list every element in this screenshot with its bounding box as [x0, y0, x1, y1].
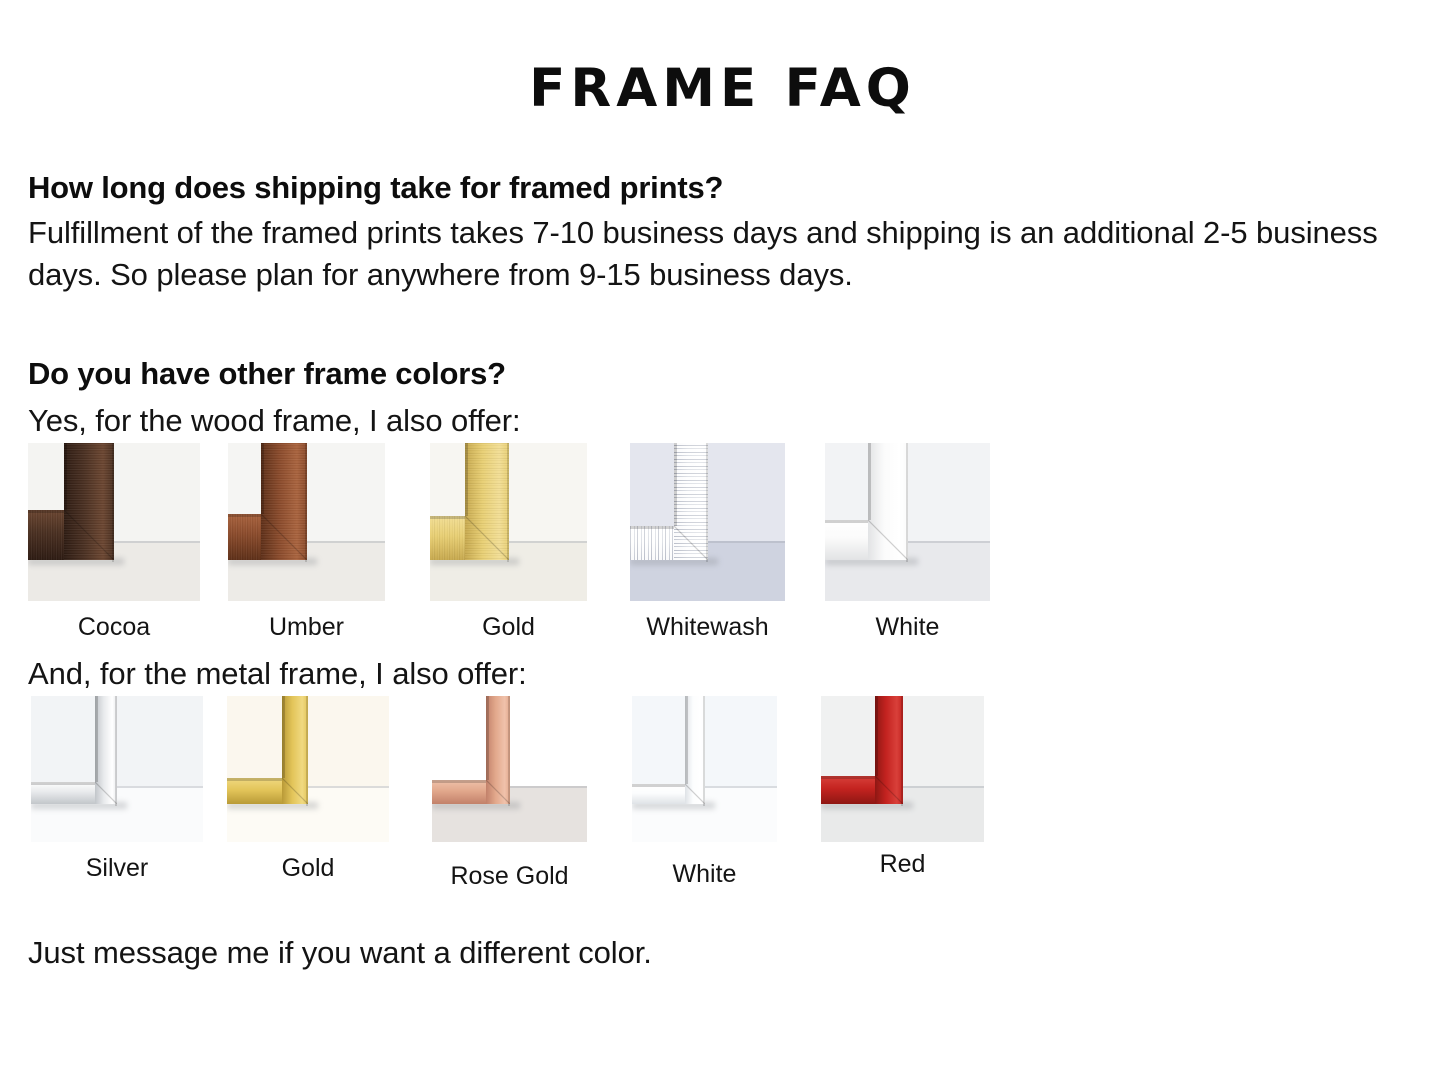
answer-shipping: Fulfillment of the framed prints takes 7… [28, 212, 1417, 298]
frame-inner-edge-horizontal [821, 776, 875, 779]
swatch-white-metal[interactable]: White [632, 696, 777, 842]
frame-outer-edge-vertical [706, 443, 708, 562]
frame-outer-edge-vertical [508, 696, 510, 806]
swatch-red-image [821, 696, 984, 842]
frame-inner-edge-vertical [465, 443, 468, 516]
frame-inner-edge-vertical [64, 443, 67, 510]
frame-corner-photo [825, 443, 990, 601]
frame-outer-edge-vertical [305, 443, 307, 562]
metal-swatch-row: SilverGoldRose GoldWhiteRed [28, 696, 1417, 896]
frame-corner-photo [227, 696, 389, 842]
frame-mitre-joint [868, 520, 908, 560]
page-title: FRAME FAQ [0, 0, 1445, 115]
swatch-silver[interactable]: Silver [31, 696, 203, 842]
frame-outer-edge-vertical [901, 696, 903, 806]
frame-inner-edge-vertical [261, 443, 264, 514]
frame-inner-edge-vertical [282, 696, 285, 778]
frame-corner-photo [430, 443, 587, 601]
question-frame-colors: Do you have other frame colors? [28, 357, 1417, 392]
swatch-gold-wood[interactable]: Gold [430, 443, 587, 601]
frame-inner-edge-vertical [486, 696, 489, 780]
frame-outer-edge-vertical [703, 696, 705, 806]
swatch-rose-gold[interactable]: Rose Gold [432, 696, 587, 842]
frame-outer-edge-vertical [115, 696, 117, 806]
frame-inner-edge-vertical [674, 443, 677, 526]
swatch-whitewash[interactable]: Whitewash [630, 443, 785, 601]
faq-content: How long does shipping take for framed p… [0, 171, 1445, 974]
swatch-white-wood-label: White [785, 613, 1030, 642]
frame-corner-photo [28, 443, 200, 601]
frame-inner-edge-horizontal [228, 514, 261, 517]
swatch-umber-image [228, 443, 385, 601]
swatch-cocoa[interactable]: Cocoa [28, 443, 200, 601]
frame-outer-edge-vertical [906, 443, 908, 562]
frame-inner-edge-horizontal [430, 516, 465, 519]
frame-inner-edge-horizontal [28, 510, 64, 513]
swatch-rose-gold-image [432, 696, 587, 842]
swatch-cocoa-image [28, 443, 200, 601]
frame-inner-edge-horizontal [31, 782, 95, 785]
frame-outer-edge-vertical [507, 443, 509, 562]
frame-mitre-joint [64, 510, 114, 560]
frame-inner-edge-vertical [685, 696, 688, 784]
frame-corner-photo [31, 696, 203, 842]
metal-frame-intro: And, for the metal frame, I also offer: [28, 653, 1417, 696]
frame-inner-edge-vertical [875, 696, 878, 776]
swatch-white-metal-image [632, 696, 777, 842]
swatch-white-wood[interactable]: White [825, 443, 990, 601]
question-shipping: How long does shipping take for framed p… [28, 171, 1417, 206]
frame-inner-edge-horizontal [227, 778, 282, 781]
frame-mitre-joint [486, 780, 510, 804]
frame-inner-edge-horizontal [432, 780, 486, 783]
wood-frame-intro: Yes, for the wood frame, I also offer: [28, 400, 1417, 443]
swatch-gold-metal-image [227, 696, 389, 842]
frame-inner-edge-horizontal [630, 526, 674, 529]
frame-inner-edge-vertical [95, 696, 98, 782]
frame-mitre-joint [875, 776, 903, 804]
swatch-umber[interactable]: Umber [228, 443, 385, 601]
frame-mitre-joint [95, 782, 117, 804]
photo-background-wall [31, 696, 203, 787]
frame-mitre-joint [674, 526, 708, 560]
frame-outer-edge-vertical [306, 696, 308, 806]
frame-corner-photo [630, 443, 785, 601]
frame-corner-photo [228, 443, 385, 601]
swatch-red[interactable]: Red [821, 696, 984, 842]
swatch-gold-wood-image [430, 443, 587, 601]
frame-corner-photo [821, 696, 984, 842]
swatch-whitewash-image [630, 443, 785, 601]
swatch-white-wood-image [825, 443, 990, 601]
frame-mitre-joint [261, 514, 307, 560]
photo-background-wall [227, 696, 389, 787]
frame-corner-photo [432, 696, 587, 842]
frame-mitre-joint [465, 516, 509, 560]
frame-corner-photo [632, 696, 777, 842]
frame-mitre-joint [282, 778, 308, 804]
frame-inner-edge-horizontal [632, 784, 685, 787]
frame-mitre-joint [685, 784, 705, 804]
frame-inner-edge-horizontal [825, 520, 868, 523]
frame-outer-edge-vertical [112, 443, 114, 562]
wood-swatch-row: CocoaUmberGoldWhitewashWhite [28, 443, 1417, 643]
closing-note: Just message me if you want a different … [28, 932, 1417, 975]
swatch-gold-metal[interactable]: Gold [227, 696, 389, 842]
frame-inner-edge-vertical [868, 443, 871, 520]
swatch-silver-image [31, 696, 203, 842]
swatch-red-label: Red [781, 850, 1024, 879]
